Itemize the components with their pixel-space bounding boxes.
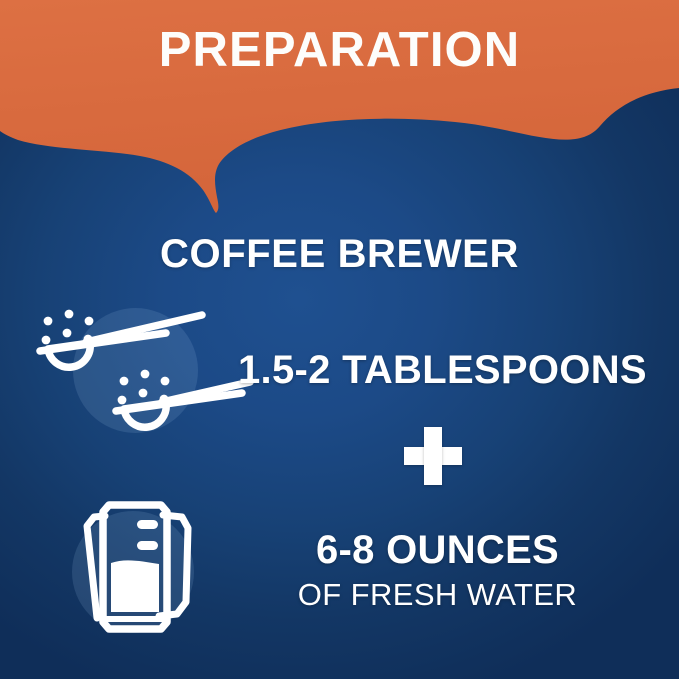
- preparation-infographic: PREPARATION COFFEE BREWER: [0, 0, 679, 679]
- coffee-grounds-dots-upper: [42, 310, 94, 345]
- plus-icon-vertical-bar: [424, 427, 442, 485]
- section-heading: COFFEE BREWER: [0, 234, 679, 274]
- kettle-level-mark-upper: [137, 520, 158, 529]
- two-tablespoons-of-coffee-grounds-icon: [26, 296, 256, 426]
- coffee-grounds-dots-lower: [118, 370, 170, 405]
- plus-icon: [404, 427, 462, 485]
- fresh-water-note-label: OF FRESH WATER: [0, 579, 679, 610]
- page-title: PREPARATION: [0, 26, 679, 75]
- tablespoons-amount-label: 1.5-2 TABLESPOONS: [238, 350, 647, 390]
- ounces-amount-label: 6-8 OUNCES: [0, 530, 679, 570]
